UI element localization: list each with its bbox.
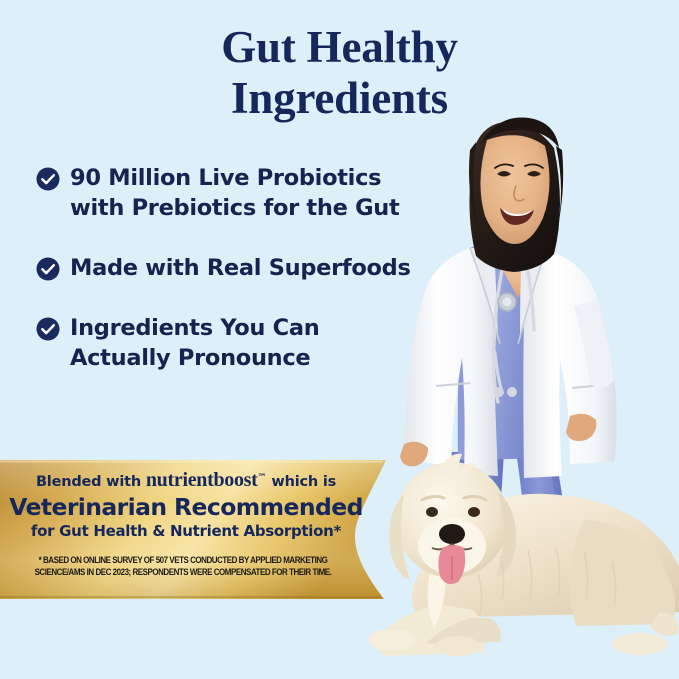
fineprint-line-1: * BASED ON ONLINE SURVEY OF 507 VETS CON… — [26, 554, 341, 566]
product-benefits-infographic: Gut Healthy Ingredients 90 Million Live … — [0, 0, 679, 679]
title-line-1: Gut Healthy — [0, 22, 679, 73]
title-line-2: Ingredients — [0, 73, 679, 124]
list-item: Made with Real Superfoods — [36, 253, 456, 283]
page-title: Gut Healthy Ingredients — [0, 22, 679, 124]
banner-lead-tail: which is — [271, 474, 336, 490]
benefit-text: Made with Real Superfoods — [70, 253, 411, 283]
benefit-line: Actually Pronounce — [70, 343, 319, 373]
check-circle-icon — [36, 257, 60, 281]
benefit-line: Ingredients You Can — [70, 313, 319, 343]
list-item: 90 Million Live Probiotics with Prebioti… — [36, 163, 456, 223]
benefits-list: 90 Million Live Probiotics with Prebioti… — [36, 163, 456, 373]
banner-subline: for Gut Health & Nutrient Absorption* — [0, 522, 372, 540]
check-circle-icon — [36, 317, 60, 341]
benefit-line: with Prebiotics for the Gut — [70, 193, 399, 223]
banner-lead-text: Blended with — [36, 474, 141, 490]
list-item: Ingredients You Can Actually Pronounce — [36, 313, 456, 373]
trademark-icon: ™ — [258, 473, 267, 483]
benefit-text: 90 Million Live Probiotics with Prebioti… — [70, 163, 399, 223]
check-circle-icon — [36, 167, 60, 191]
benefit-line: 90 Million Live Probiotics — [70, 163, 399, 193]
fineprint-line-2: SCIENCE/AMS IN DEC 2023; RESPONDENTS WER… — [26, 566, 341, 578]
banner-lead-line: Blended with nutrientboost™ which is — [0, 469, 372, 492]
banner-fineprint: * BASED ON ONLINE SURVEY OF 507 VETS CON… — [26, 554, 341, 578]
benefit-text: Ingredients You Can Actually Pronounce — [70, 313, 319, 373]
banner-headline: Veterinarian Recommended — [0, 493, 372, 521]
veterinarian-recommended-banner: Blended with nutrientboost™ which is Vet… — [0, 460, 392, 599]
banner-text-block: Blended with nutrientboost™ which is Vet… — [0, 460, 372, 540]
brand-name: nutrientboost — [146, 469, 258, 491]
benefit-line: Made with Real Superfoods — [70, 253, 411, 283]
